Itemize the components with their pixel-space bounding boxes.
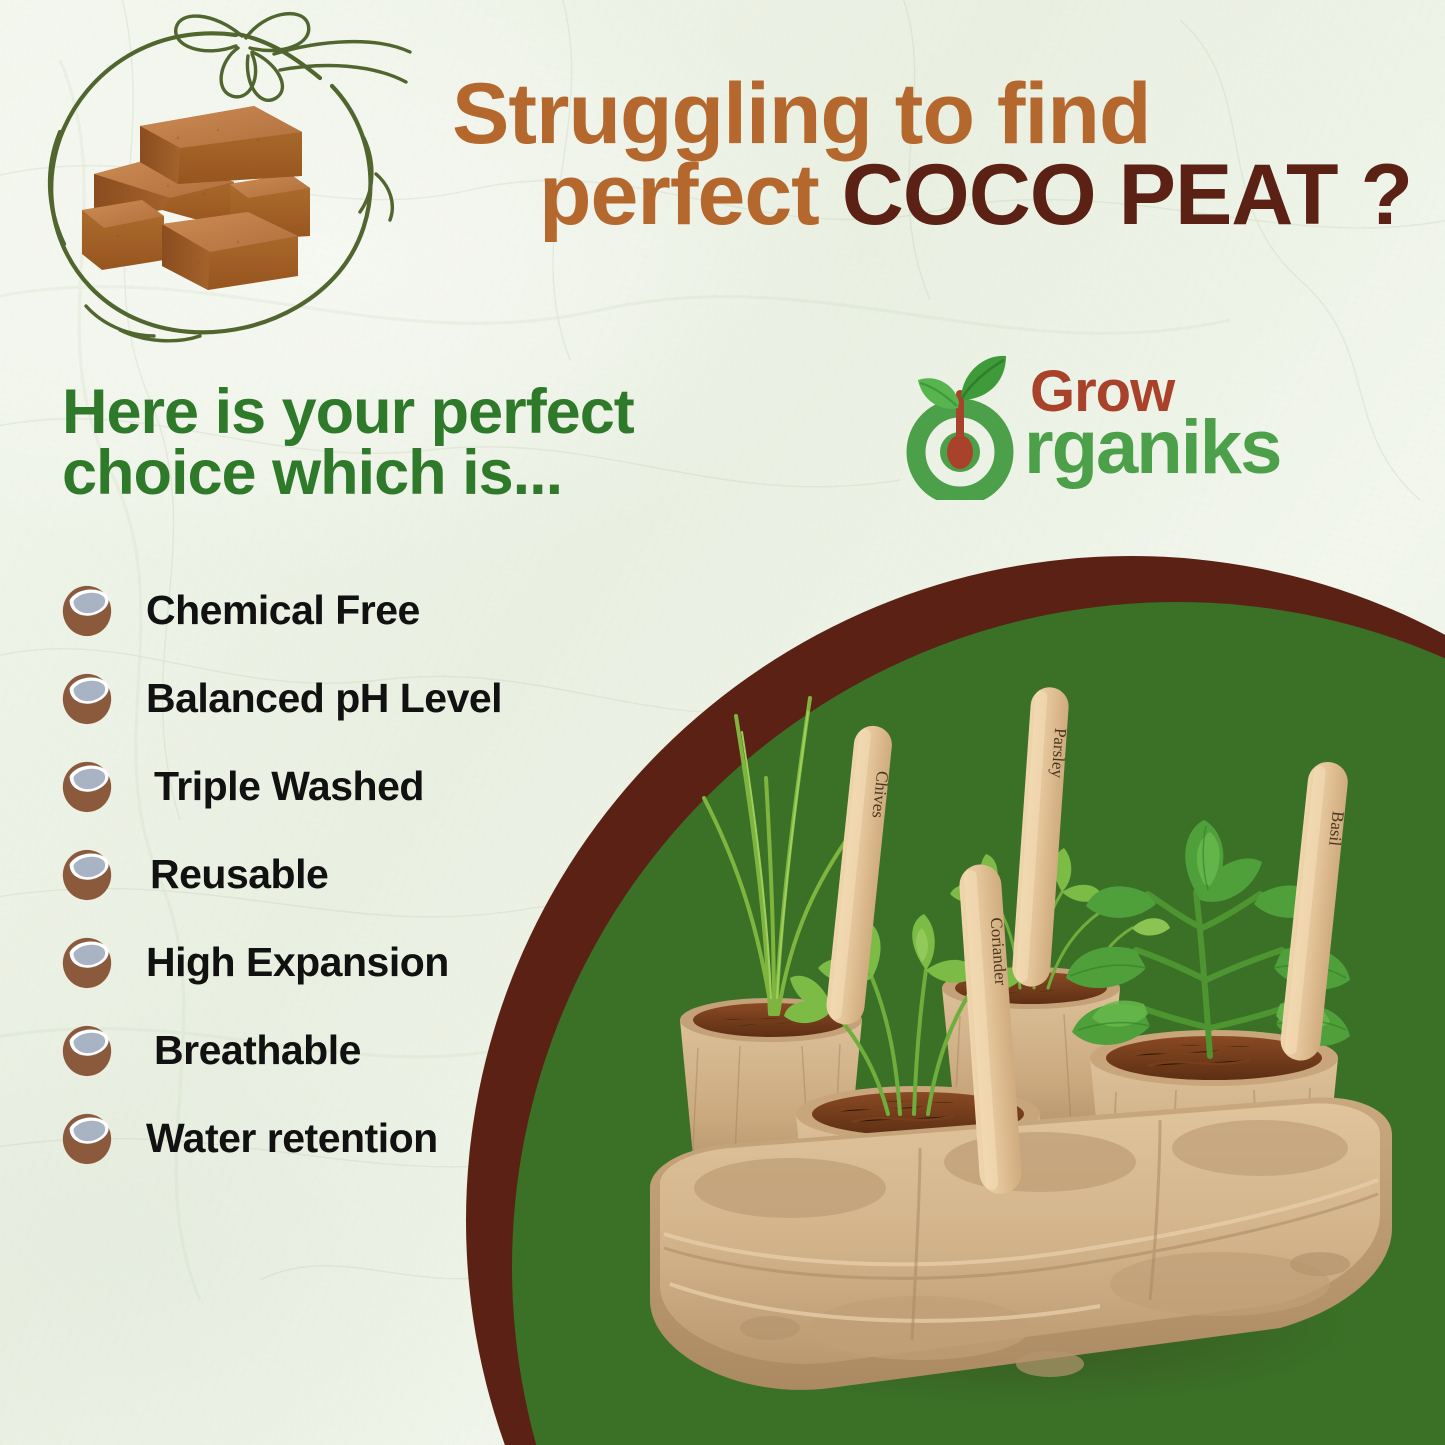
subheading-line-2: choice which is... (62, 443, 802, 504)
subheading-line-1: Here is your perfect (62, 382, 802, 443)
headline-line-1: Struggling to find (452, 74, 1412, 155)
logo-word-organiks: rganiks (1024, 404, 1280, 491)
coconut-icon (58, 581, 116, 639)
coconut-icon (58, 1109, 116, 1167)
feature-list: Chemical Free Balanced pH Level Triple W… (58, 566, 658, 1182)
plant-label-chives: Chives (825, 724, 897, 1027)
poster-canvas: Struggling to find perfect COCO PEAT ? H… (0, 0, 1445, 1445)
subheading: Here is your perfect choice which is... (62, 382, 802, 504)
feature-item: Triple Washed (58, 742, 658, 830)
svg-text:Basil: Basil (1325, 810, 1348, 847)
feature-label: Breathable (154, 1027, 361, 1074)
headline-line-2-prefix: perfect (539, 147, 842, 243)
headline-line-2-emphasis: COCO PEAT ? (842, 147, 1412, 243)
feature-label: High Expansion (146, 939, 449, 986)
headline-line-2: perfect COCO PEAT ? (452, 155, 1412, 236)
feature-label: Triple Washed (154, 763, 424, 810)
coconut-icon (58, 757, 116, 815)
seedling-tray-photo: Chives Parsley Coriander Basil (620, 628, 1420, 1418)
coconut-icon (58, 1021, 116, 1079)
feature-item: Chemical Free (58, 566, 658, 654)
feature-label: Reusable (150, 851, 328, 898)
seedling-target-icon (898, 352, 1028, 500)
coconut-icon (58, 933, 116, 991)
plant-label-parsley: Parsley (1011, 686, 1073, 988)
brand-logo[interactable]: Grow rganiks (898, 352, 1298, 502)
feature-label: Chemical Free (146, 587, 420, 634)
headline: Struggling to find perfect COCO PEAT ? (452, 74, 1412, 236)
coconut-icon (58, 669, 116, 727)
coconut-icon (58, 845, 116, 903)
feature-item: Breathable (58, 1006, 658, 1094)
coco-peat-bricks-icon (58, 78, 358, 298)
feature-label: Balanced pH Level (146, 675, 502, 722)
feature-item: Reusable (58, 830, 658, 918)
feature-item: Water retention (58, 1094, 658, 1182)
feature-item: High Expansion (58, 918, 658, 1006)
feature-label: Water retention (146, 1115, 438, 1162)
svg-text:Parsley: Parsley (1048, 727, 1070, 779)
feature-item: Balanced pH Level (58, 654, 658, 742)
